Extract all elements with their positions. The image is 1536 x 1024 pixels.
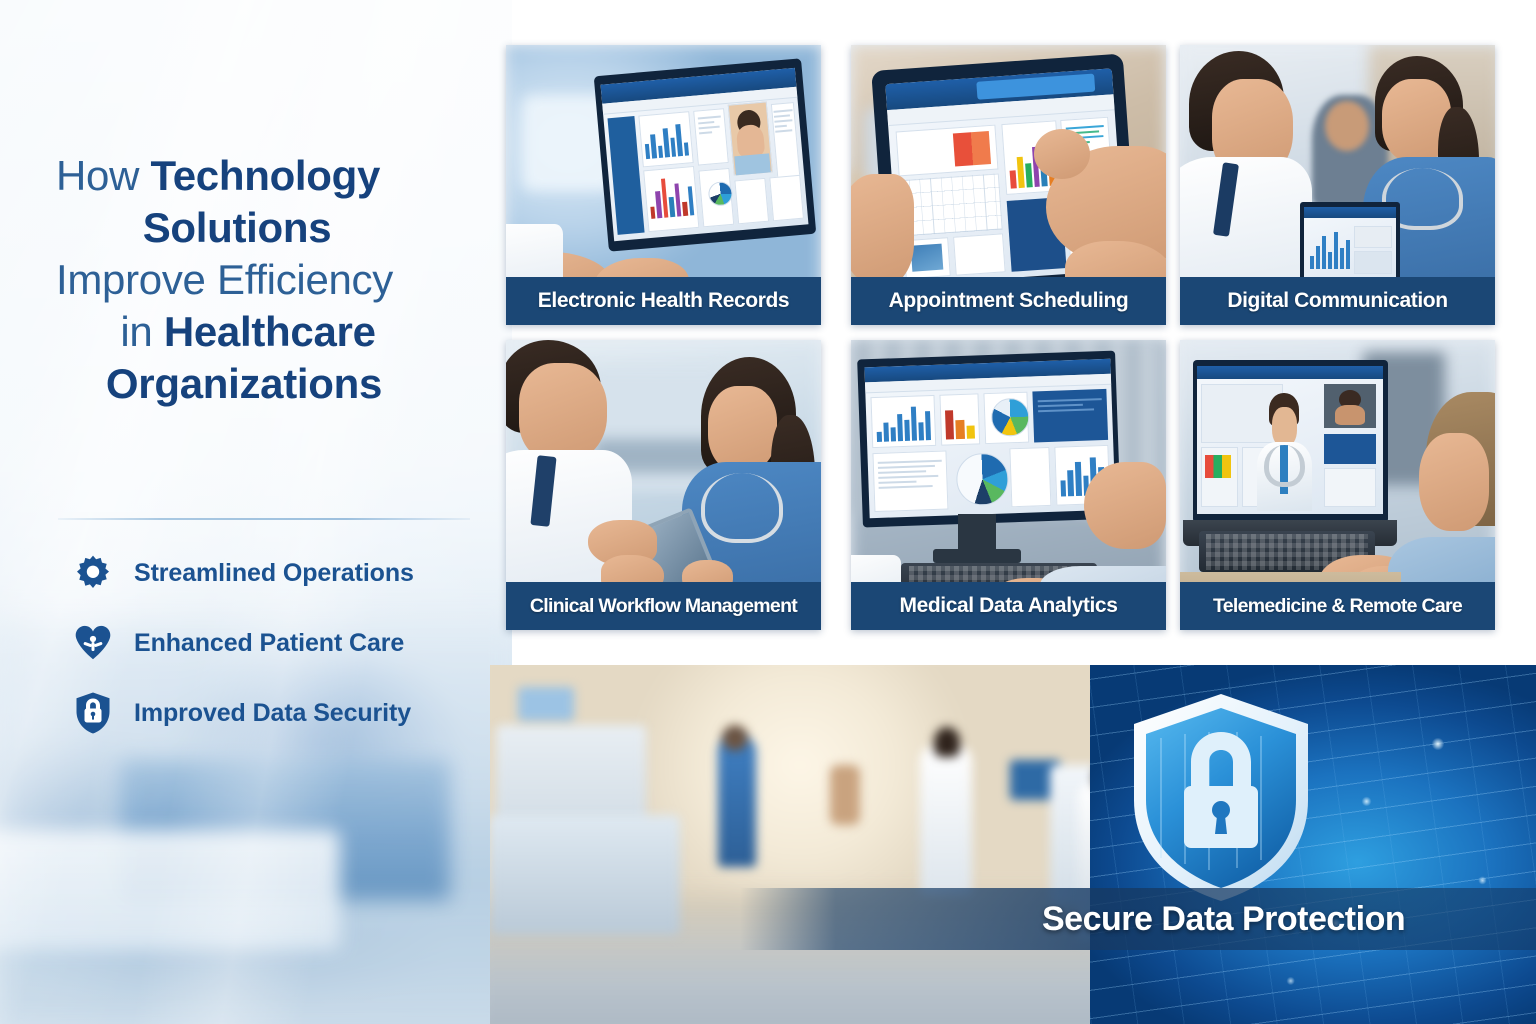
- benefit-label: Enhanced Patient Care: [134, 629, 404, 658]
- solution-tile-appointment-scheduling[interactable]: Appointment Scheduling: [851, 45, 1166, 325]
- banner-caption-bar: Secure Data Protection: [740, 888, 1536, 950]
- heart-shield-icon: [72, 622, 114, 664]
- tile-caption-bar: Clinical Workflow Management: [506, 582, 821, 630]
- benefit-item-streamlined-operations: Streamlined Operations: [72, 545, 472, 601]
- blurred-visitor: [718, 737, 756, 867]
- title-word-healthcare: Healthcare: [164, 308, 376, 355]
- title-word-in: in: [120, 308, 163, 355]
- title-word-solutions: Solutions: [143, 204, 332, 251]
- blurred-clinician-walking: [920, 745, 972, 895]
- page-title: How Technology Solutions Improve Efficie…: [56, 150, 476, 410]
- shield-lock-icon: [72, 692, 114, 734]
- photo-hospital-corridor: [490, 665, 1150, 1024]
- title-line-5: Organizations: [56, 358, 476, 410]
- shield-lock-icon: [1126, 690, 1316, 905]
- left-panel: How Technology Solutions Improve Efficie…: [0, 0, 512, 1024]
- solution-tile-digital-communication[interactable]: Digital Communication: [1180, 45, 1495, 325]
- title-line-4: in Healthcare: [56, 306, 476, 358]
- title-divider: [58, 518, 470, 520]
- tile-caption-label: Electronic Health Records: [538, 289, 789, 313]
- tile-caption-bar: Digital Communication: [1180, 277, 1495, 325]
- tile-caption-label: Telemedicine & Remote Care: [1213, 595, 1462, 618]
- tile-caption-label: Digital Communication: [1227, 289, 1447, 313]
- title-word-how: How: [56, 152, 151, 199]
- benefits-list: Streamlined Operations Enhanced Patien: [72, 545, 472, 755]
- secure-data-protection-banner: 01001 10 0110 1 0100 011 1 0010 100 0 11…: [490, 665, 1536, 1024]
- title-line-1: How Technology: [56, 150, 476, 202]
- gear-icon: [72, 552, 114, 594]
- tile-caption-label: Appointment Scheduling: [889, 289, 1129, 313]
- benefit-item-enhanced-patient-care: Enhanced Patient Care: [72, 615, 472, 671]
- title-word-technology: Technology: [151, 152, 381, 199]
- title-word-organizations: Organizations: [106, 360, 382, 407]
- solution-tile-telemedicine-remote-care[interactable]: Telemedicine & Remote Care: [1180, 340, 1495, 630]
- solution-tile-electronic-health-records[interactable]: Electronic Health Records: [506, 45, 821, 325]
- benefit-item-improved-data-security: Improved Data Security: [72, 685, 472, 741]
- banner-caption-label: Secure Data Protection: [1042, 900, 1405, 939]
- solution-tile-medical-data-analytics[interactable]: Medical Data Analytics: [851, 340, 1166, 630]
- infographic-poster: How Technology Solutions Improve Efficie…: [0, 0, 1536, 1024]
- benefit-label: Streamlined Operations: [134, 559, 414, 588]
- solution-tile-clinical-workflow-management[interactable]: Clinical Workflow Management: [506, 340, 821, 630]
- solutions-grid: Electronic Health Records: [506, 45, 1496, 660]
- benefit-label: Improved Data Security: [134, 699, 411, 728]
- tile-caption-bar: Medical Data Analytics: [851, 582, 1166, 630]
- tile-caption-bar: Appointment Scheduling: [851, 277, 1166, 325]
- tile-caption-label: Clinical Workflow Management: [530, 595, 797, 618]
- tile-caption-bar: Electronic Health Records: [506, 277, 821, 325]
- title-words-improve-efficiency: Improve Efficiency: [56, 256, 393, 303]
- title-line-2: Solutions: [56, 202, 476, 254]
- tile-caption-label: Medical Data Analytics: [899, 594, 1117, 618]
- digital-security-graphic: 01001 10 0110 1 0100 011 1 0010 100 0 11…: [1090, 665, 1536, 1024]
- title-line-3: Improve Efficiency: [56, 254, 476, 306]
- tile-caption-bar: Telemedicine & Remote Care: [1180, 582, 1495, 630]
